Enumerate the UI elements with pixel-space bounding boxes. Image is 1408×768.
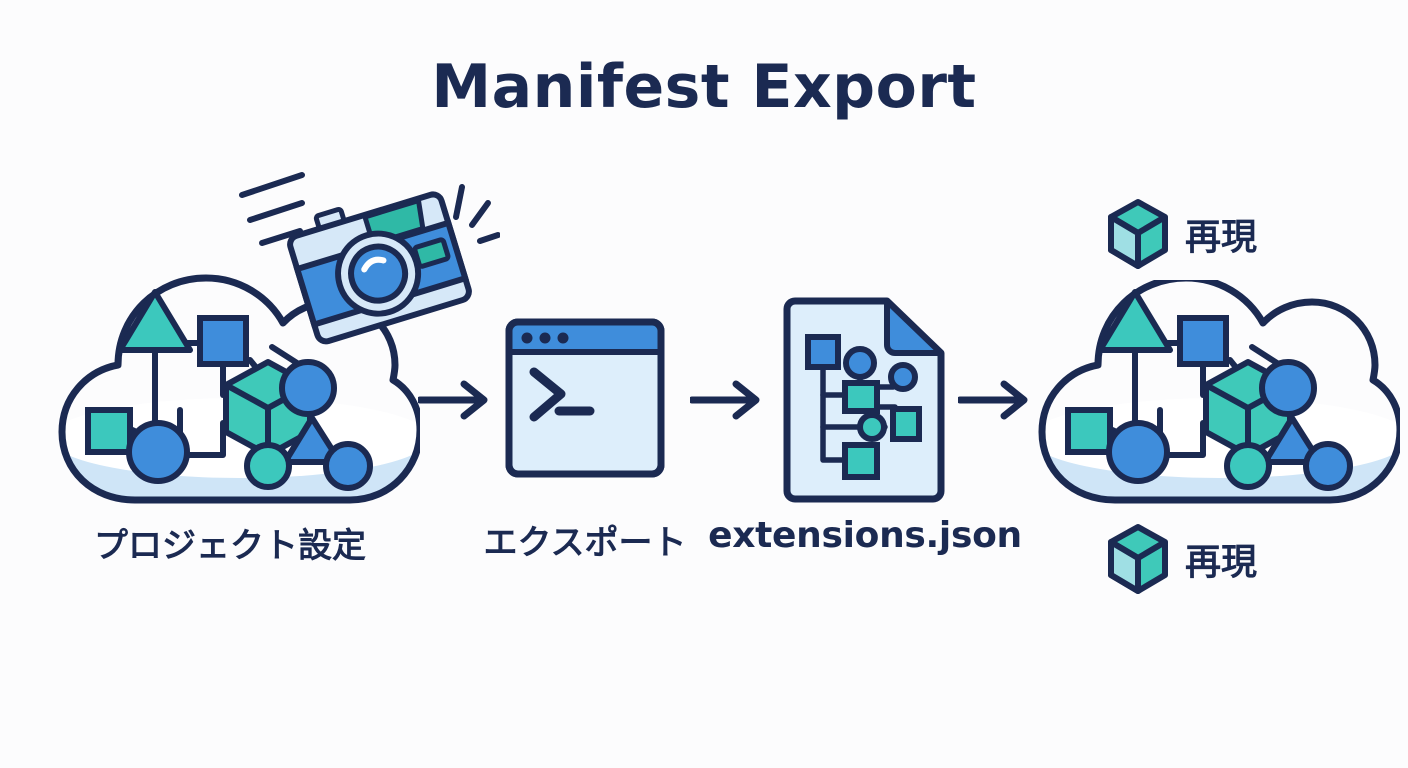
badge-label-reproduce-top: 再現: [1185, 208, 1257, 260]
cube-icon: [1105, 198, 1171, 270]
stage-label-project-settings: プロジェクト設定: [40, 518, 420, 567]
arrow-2: [690, 378, 766, 422]
stage-extensions-json: extensions.json: [775, 295, 955, 510]
stage-label-extensions-json: extensions.json: [685, 515, 1045, 556]
camera-icon: [230, 165, 500, 350]
stage-export: エクスポート: [495, 310, 675, 490]
diagram-canvas: Manifest Export: [0, 0, 1408, 768]
arrow-1: [418, 378, 494, 422]
terminal-window-icon: [495, 310, 675, 490]
cube-icon: [1105, 523, 1171, 595]
stage-reproduce: [1020, 280, 1400, 520]
json-document-icon: [775, 295, 955, 510]
page-title: Manifest Export: [0, 52, 1408, 122]
terminal-dots: [522, 333, 569, 344]
cloud-network-icon: [1020, 280, 1400, 520]
badge-reproduce-bottom: 再現: [1105, 523, 1257, 595]
badge-reproduce-top: 再現: [1105, 198, 1257, 270]
stage-project-settings: プロジェクト設定: [40, 170, 420, 520]
badge-label-reproduce-bottom: 再現: [1185, 533, 1257, 585]
